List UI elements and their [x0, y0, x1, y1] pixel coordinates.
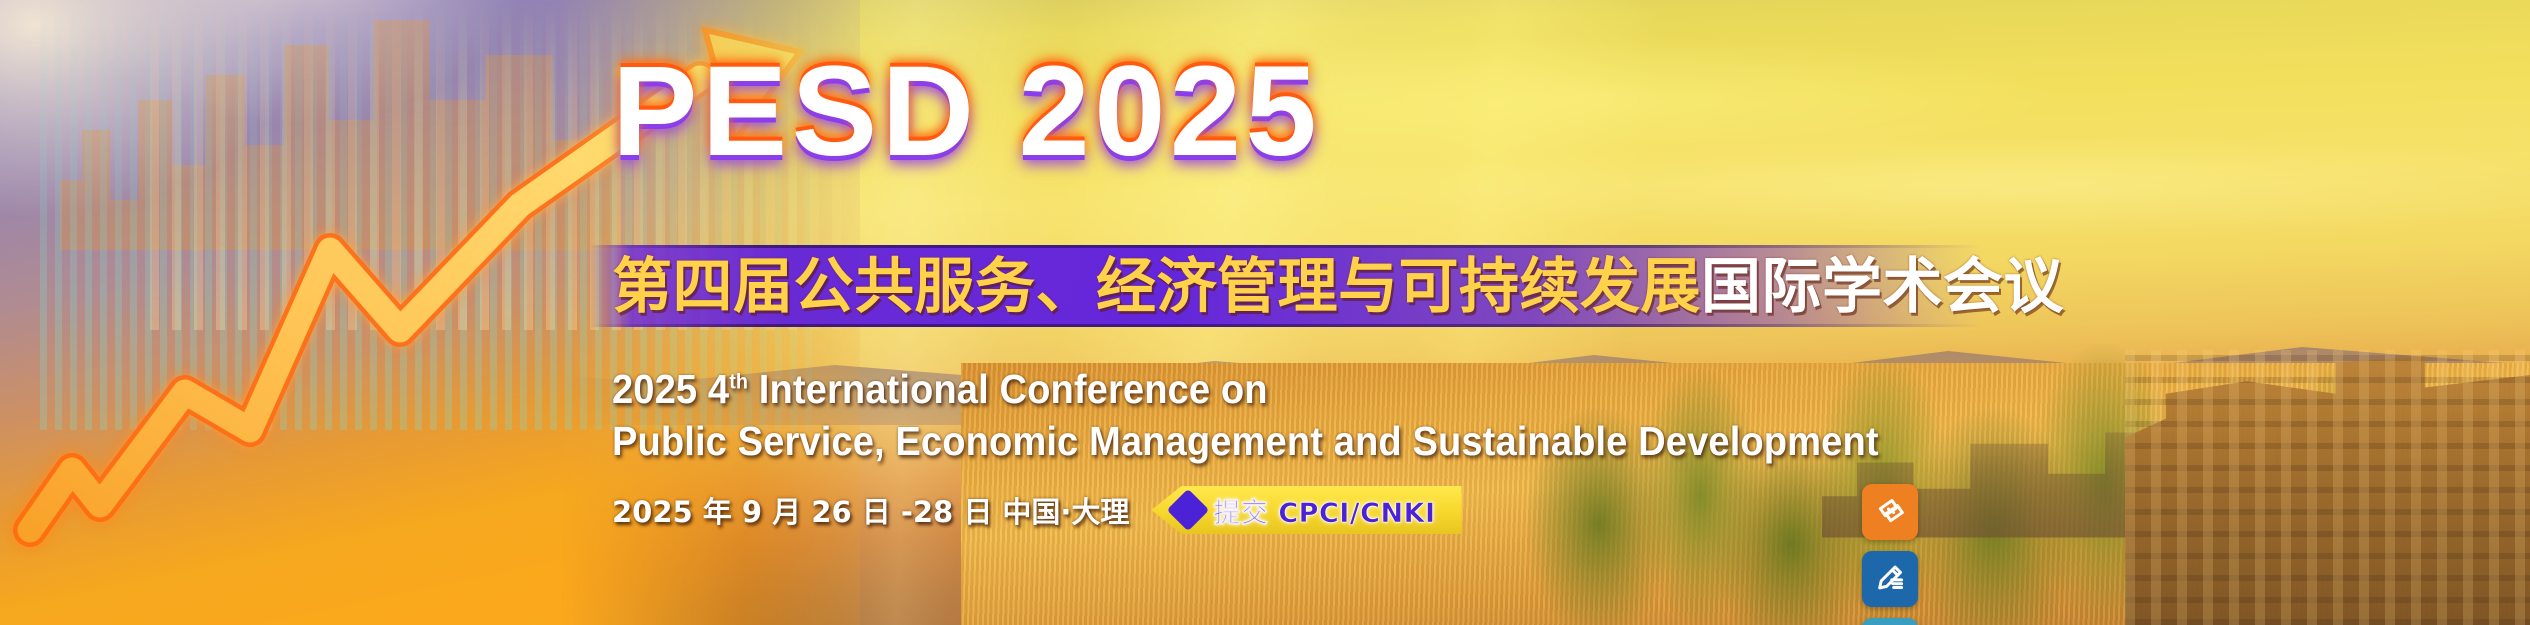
chinese-title-secondary: 国际学术会议 [1701, 252, 2064, 322]
page-title: PESD 2025 [612, 48, 1321, 176]
ordinal-suffix: th [729, 369, 748, 393]
chinese-title: 第四届公共服务、经济管理与可持续发展国际学术会议 [612, 252, 2064, 322]
floating-action-rail [1862, 484, 1918, 625]
english-title-line-1: 2025 4th International Conference on [612, 366, 1268, 413]
submit-paper-button[interactable] [1862, 551, 1918, 607]
banner-text-block: PESD 2025 第四届公共服务、经济管理与可持续发展国际学术会议 2025 … [612, 0, 2032, 625]
english-title-line-2: Public Service, Economic Management and … [612, 418, 1879, 465]
english-title-suffix: International Conference on [748, 366, 1268, 412]
date-location-text: 2025 年 9 月 26 日 -28 日 中国·大理 [612, 489, 1129, 531]
indexing-badge-label: 提交 CPCI/CNKI [1213, 491, 1435, 530]
edit-icon [1873, 562, 1907, 596]
ticket-icon [1873, 495, 1907, 529]
support-button[interactable] [1862, 618, 1918, 625]
english-title-prefix: 2025 4 [612, 366, 729, 412]
conference-banner: PESD 2025 第四届公共服务、经济管理与可持续发展国际学术会议 2025 … [0, 0, 2530, 625]
chinese-title-primary: 第四届公共服务、经济管理与可持续发展 [612, 252, 1701, 322]
building-windows [2125, 350, 2530, 625]
diamond-icon [1167, 489, 1209, 531]
indexing-badge[interactable]: 提交 CPCI/CNKI [1151, 486, 1461, 534]
date-and-badge-row: 2025 年 9 月 26 日 -28 日 中国·大理 提交 CPCI/CNKI [612, 486, 1462, 534]
ticket-button[interactable] [1862, 484, 1918, 540]
